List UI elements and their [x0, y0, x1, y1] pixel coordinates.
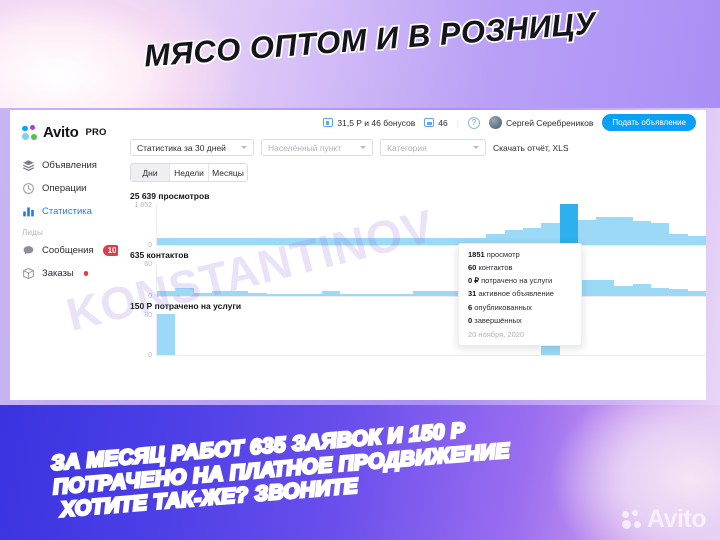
user-name-label: Сергей Серебреников: [506, 118, 593, 128]
chart-bar: [175, 288, 193, 296]
views-y-bottom-label: 0: [148, 242, 152, 249]
chart-bar: [194, 293, 212, 296]
tab-weeks[interactable]: Недели: [170, 164, 209, 181]
history-icon: [22, 182, 35, 195]
top-bar: 31,5 Р и 46 бонусов 46 | ? Сергей Серебр…: [118, 110, 706, 135]
chart-bar: [413, 238, 431, 245]
chart-bar: [303, 294, 321, 296]
avito-pro-logo[interactable]: Avito PRO: [10, 122, 118, 141]
chart-bar: [377, 294, 395, 296]
chart-bar: [541, 223, 559, 245]
avito-dots-icon: [622, 510, 642, 530]
chart-bar: [688, 291, 706, 297]
avito-watermark: Avito: [622, 507, 706, 532]
counter-label: 46: [438, 118, 447, 128]
sidebar-item-operations[interactable]: Операции: [10, 177, 118, 200]
chart-bar: [157, 238, 175, 245]
tab-days[interactable]: Дни: [131, 164, 170, 181]
avatar: [489, 116, 502, 129]
tooltip-spent-value: 0 ₽: [468, 276, 479, 285]
chart-bar: [596, 217, 614, 245]
question-icon[interactable]: ?: [468, 117, 480, 129]
chart-bar: [303, 238, 321, 245]
contacts-plot[interactable]: [156, 263, 706, 297]
poster-stage: МЯСО ОПТОМ И В РОЗНИЦУ KONSTANTINOV Avit…: [0, 0, 720, 540]
chart-bar: [651, 288, 669, 296]
tooltip-published-label: опубликованных: [474, 303, 532, 312]
bar-chart-icon: [22, 205, 35, 218]
user-menu[interactable]: Сергей Серебреников: [489, 116, 593, 129]
avito-dots-icon: [22, 125, 37, 140]
charts-area: 25 639 просмотров 1 852 0 635 контактов: [118, 182, 706, 356]
sidebar-item-ads[interactable]: Объявления: [10, 154, 118, 177]
chart-bar: [230, 291, 248, 296]
box-icon: [22, 267, 35, 280]
layers-icon: [22, 159, 35, 172]
chart-bar: [395, 238, 413, 245]
views-chart: 25 639 просмотров 1 852 0: [130, 191, 706, 246]
chart-icon: [424, 118, 434, 127]
sidebar-item-messages-label: Сообщения: [42, 245, 94, 256]
sidebar-item-orders[interactable]: Заказы: [10, 262, 118, 285]
contacts-bars: [157, 263, 706, 296]
chart-bar: [633, 284, 651, 296]
chart-bar: [285, 294, 303, 296]
chart-bar: [688, 236, 706, 245]
tooltip-finished-label: завершённых: [474, 316, 521, 325]
tooltip-published-row: 6 опубликованных: [468, 304, 572, 313]
avito-pro-window: Avito PRO Объявления: [10, 110, 706, 400]
filters-row: Статистика за 30 дней Населённый пункт К…: [118, 135, 706, 156]
contacts-y-top-label: 60: [144, 261, 152, 268]
spending-chart-title: 150 Р потрачено на услуги: [130, 301, 706, 311]
sidebar-item-messages[interactable]: Сообщения 10: [10, 239, 118, 262]
download-xls-link[interactable]: Скачать отчёт, XLS: [493, 143, 569, 153]
tooltip-active-label: активное объявление: [478, 289, 554, 298]
chart-bar: [175, 238, 193, 245]
tooltip-views-label: просмотр: [487, 250, 520, 259]
tooltip-contacts-row: 60 контактов: [468, 264, 572, 273]
spending-plot[interactable]: [156, 314, 706, 356]
contacts-y-axis: 60 0: [130, 263, 156, 297]
chevron-down-icon: [241, 146, 247, 149]
tooltip-views-value: 1851: [468, 250, 485, 259]
tooltip-active-value: 31: [468, 289, 476, 298]
tooltip-date: 20 ноября, 2020: [468, 330, 572, 339]
views-chart-title: 25 639 просмотров: [130, 191, 706, 201]
chart-bar: [267, 238, 285, 245]
granularity-tabs: Дни Недели Месяцы: [130, 163, 248, 182]
chart-bar: [669, 289, 687, 296]
spending-y-axis: 80 0: [130, 314, 156, 356]
chart-bar: [669, 234, 687, 245]
chart-bar: [358, 238, 376, 245]
chevron-down-icon: [473, 146, 479, 149]
counter-indicator[interactable]: 46: [424, 118, 447, 128]
sidebar-nav: Объявления Операции Статистика: [10, 154, 118, 285]
chart-bar: [377, 238, 395, 245]
chart-bar: [560, 204, 578, 245]
avito-watermark-text: Avito: [647, 507, 706, 532]
category-select[interactable]: Категория: [380, 139, 486, 156]
contacts-chart: 635 контактов 60 0: [130, 250, 706, 297]
chart-bar: [596, 280, 614, 297]
period-select[interactable]: Статистика за 30 дней: [130, 139, 254, 156]
views-y-axis: 1 852 0: [130, 204, 156, 246]
sidebar-item-operations-label: Операции: [42, 183, 86, 194]
chart-bar: [157, 291, 175, 296]
chart-bar: [614, 286, 632, 296]
chart-bar: [212, 238, 230, 245]
orders-dot-indicator: [84, 271, 89, 276]
chat-icon: [22, 244, 35, 257]
tooltip-finished-value: 0: [468, 316, 472, 325]
views-y-top-label: 1 852: [134, 202, 152, 209]
period-select-value: Статистика за 30 дней: [137, 143, 226, 153]
chart-bar: [431, 291, 449, 296]
tooltip-spent-label: потрачено на услуги: [481, 276, 552, 285]
sidebar-section-leads: Лиды: [10, 223, 118, 239]
sidebar-item-ads-label: Объявления: [42, 160, 97, 171]
chart-bar: [322, 238, 340, 245]
tooltip-spent-row: 0 ₽ потрачено на услуги: [468, 277, 572, 286]
tooltip-finished-row: 0 завершённых: [468, 317, 572, 326]
tooltip-contacts-label: контактов: [478, 263, 512, 272]
tab-months[interactable]: Месяцы: [209, 164, 247, 181]
spending-y-top-label: 80: [144, 312, 152, 319]
balance-indicator[interactable]: 31,5 Р и 46 бонусов: [323, 118, 415, 128]
chart-bar: [578, 220, 596, 245]
tooltip-active-row: 31 активное объявление: [468, 290, 572, 299]
sidebar-item-statistics-label: Статистика: [42, 206, 92, 217]
chart-bar: [340, 238, 358, 245]
main-content: 31,5 Р и 46 бонусов 46 | ? Сергей Серебр…: [118, 110, 706, 400]
chevron-down-icon: [360, 146, 366, 149]
spending-chart: 150 Р потрачено на услуги 80 0: [130, 301, 706, 356]
chart-bar: [285, 238, 303, 245]
chart-bar: [230, 238, 248, 245]
chart-bar: [194, 238, 212, 245]
logo-brand-text: Avito: [43, 124, 78, 141]
chart-bar: [633, 221, 651, 245]
chart-bar: [358, 294, 376, 296]
views-bars: [157, 204, 706, 245]
chart-bar: [322, 291, 340, 296]
location-select[interactable]: Населённый пункт: [261, 139, 373, 156]
chart-bar: [614, 217, 632, 245]
chart-bar: [267, 294, 285, 296]
balance-label: 31,5 Р и 46 бонусов: [337, 118, 415, 128]
sidebar-item-statistics[interactable]: Статистика: [10, 200, 118, 223]
chart-bar: [157, 314, 175, 355]
chart-bar: [395, 294, 413, 296]
location-select-value: Населённый пункт: [268, 143, 341, 153]
sidebar-item-orders-label: Заказы: [42, 268, 74, 279]
chart-bar: [248, 238, 266, 245]
contacts-y-bottom-label: 0: [148, 293, 152, 300]
post-ad-button[interactable]: Подать объявление: [602, 114, 696, 131]
chart-bar: [651, 223, 669, 245]
views-plot[interactable]: [156, 204, 706, 246]
chart-bar: [248, 293, 266, 296]
chart-tooltip: 1851 просмотр 60 контактов 0 ₽ потрачено…: [458, 243, 582, 346]
chart-bar: [212, 291, 230, 296]
contacts-chart-title: 635 контактов: [130, 250, 706, 260]
logo-pro-text: PRO: [85, 127, 106, 138]
chart-bar: [431, 238, 449, 245]
chart-bar: [340, 294, 358, 296]
chart-bar: [413, 291, 431, 296]
topbar-divider: |: [457, 118, 459, 128]
spending-y-bottom-label: 0: [148, 352, 152, 359]
wallet-icon: [323, 118, 333, 127]
tooltip-contacts-value: 60: [468, 263, 476, 272]
category-select-value: Категория: [387, 143, 427, 153]
tooltip-published-value: 6: [468, 303, 472, 312]
sidebar: Avito PRO Объявления: [10, 110, 118, 400]
spending-bars: [157, 314, 706, 355]
tooltip-views-row: 1851 просмотр: [468, 251, 572, 260]
